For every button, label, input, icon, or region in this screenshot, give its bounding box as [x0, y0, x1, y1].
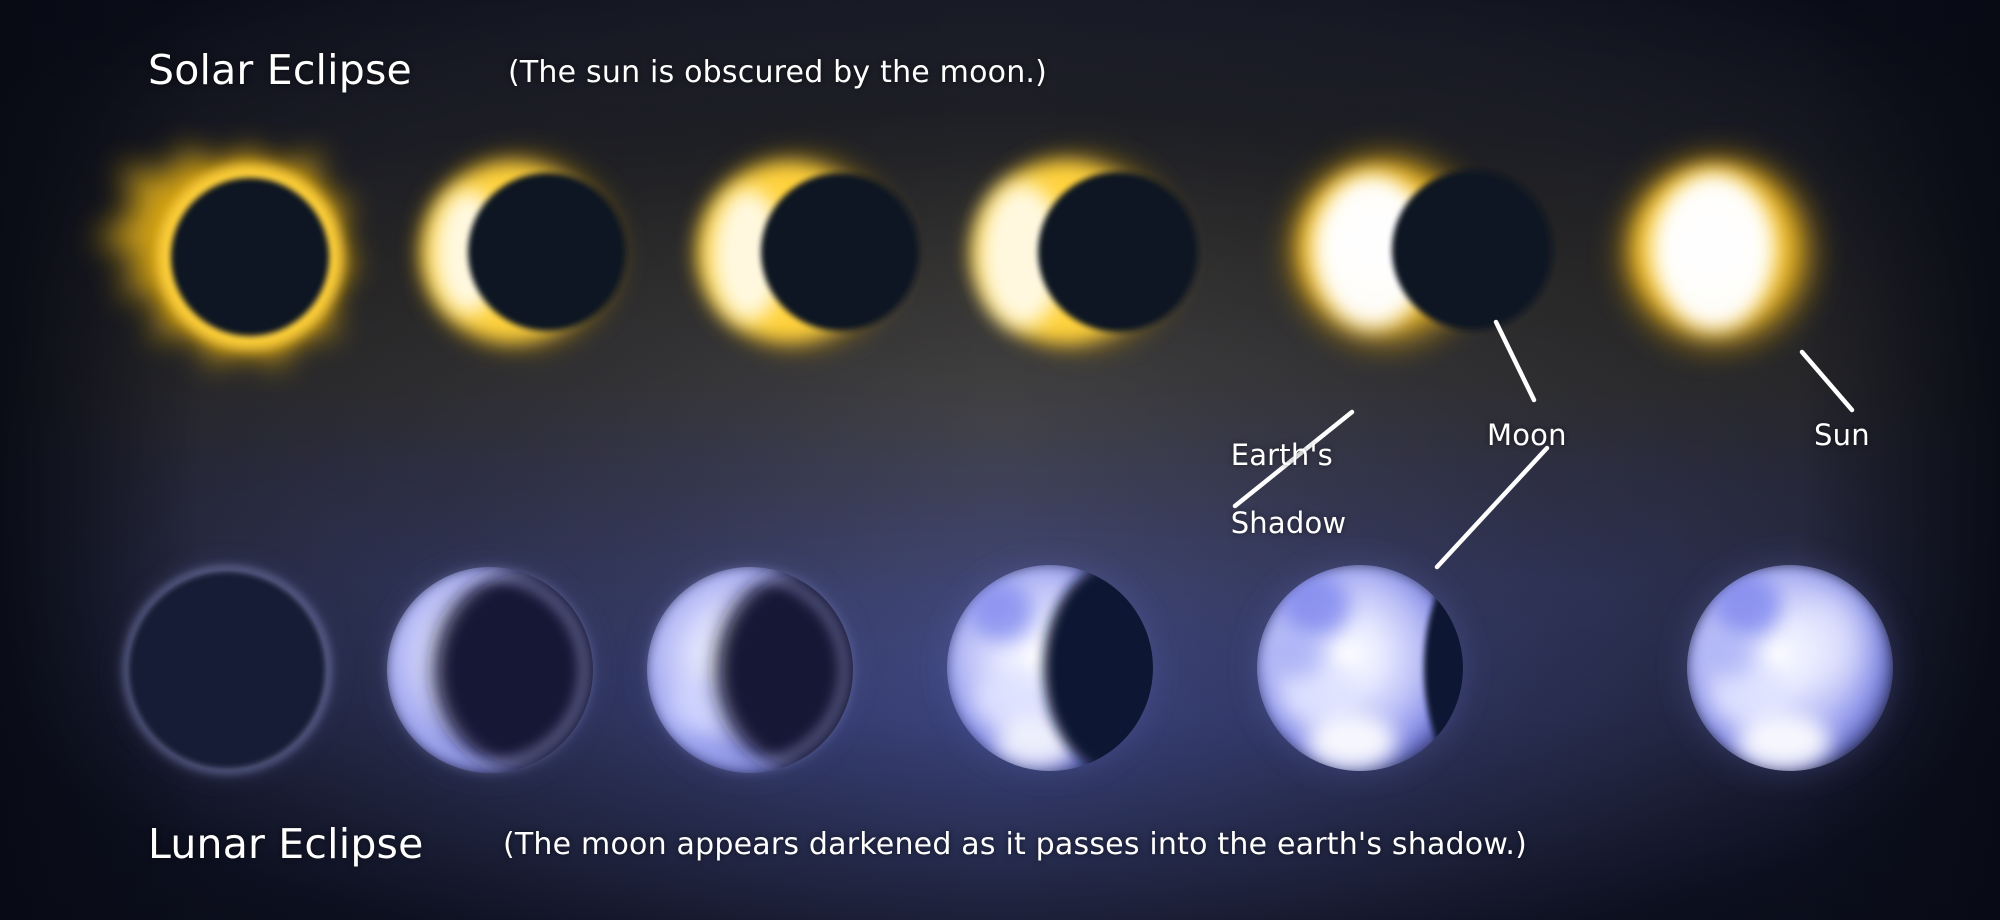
- solar-phase-total-eclipse: [96, 146, 356, 368]
- lunar-phase-emerging-1: [380, 560, 626, 780]
- callout-line-moon-upper: [1496, 322, 1534, 400]
- lunar-phase-full-moon: [1674, 552, 1906, 784]
- eclipse-diagram: Solar Eclipse (The sun is obscured by th…: [0, 0, 2000, 920]
- solar-phase-partial-crescent: [972, 152, 1198, 352]
- lunar-eclipse-subtitle: (The moon appears darkened as it passes …: [503, 827, 1527, 862]
- callout-line-moon-lower: [1437, 448, 1547, 567]
- eclipse-phases-layer: [0, 0, 2000, 920]
- lunar-phase-gibbous: [1246, 554, 1520, 782]
- solar-phase-partial-thin-crescent: [698, 152, 919, 352]
- lunar-eclipse-title: Lunar Eclipse: [148, 820, 424, 868]
- solar-eclipse-subtitle: (The sun is obscured by the moon.): [508, 55, 1047, 90]
- solar-phase-uneclipsed-sun: [1614, 148, 1822, 356]
- callout-line-sun: [1802, 352, 1852, 410]
- solar-phase-diamond-ring: [421, 152, 626, 352]
- lunar-phase-half: [938, 556, 1192, 780]
- callout-label-earth-shadow-line1: Earth's: [1231, 438, 1333, 472]
- callout-label-sun: Sun: [1814, 418, 1870, 452]
- solar-eclipse-title: Solar Eclipse: [148, 46, 412, 94]
- callout-label-moon: Moon: [1487, 418, 1567, 452]
- lunar-phase-total-eclipse: [117, 560, 337, 780]
- lunar-phase-emerging-2: [640, 560, 900, 780]
- callout-label-earth-shadow: Earth's Shadow: [1193, 405, 1346, 575]
- callout-label-earth-shadow-line2: Shadow: [1231, 506, 1347, 540]
- solar-phase-partial-large: [1282, 146, 1552, 354]
